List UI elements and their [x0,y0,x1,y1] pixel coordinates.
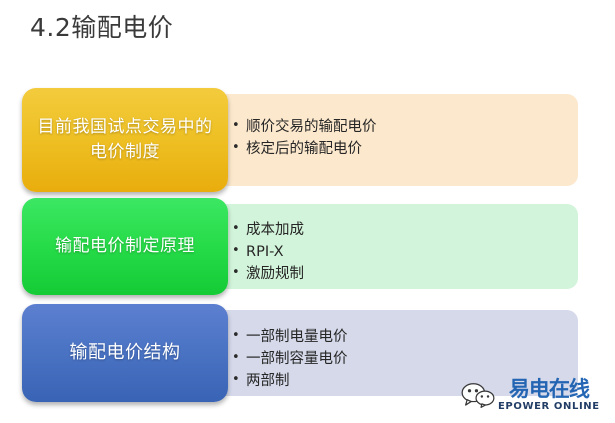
brand-name-cn: 易电在线 [509,379,589,400]
brand-text-block: 易电在线 EPOWER ONLINE [498,379,600,412]
bullet-list: 顺价交易的输配电价 核定后的输配电价 [232,100,578,160]
content-row: 成本加成 RPI-X 激励规制 输配电价制定原理 [0,198,615,295]
wechat-icon [461,381,495,409]
category-label-box[interactable]: 输配电价制定原理 [22,198,228,295]
list-item: 核定后的输配电价 [232,138,578,160]
list-item: 一部制容量电价 [232,348,578,370]
content-row: 顺价交易的输配电价 核定后的输配电价 目前我国试点交易中的电价制度 [0,88,615,192]
category-label-box[interactable]: 输配电价结构 [22,304,228,402]
watermark-logo: 易电在线 EPOWER ONLINE [461,371,609,419]
bullet-list: 成本加成 RPI-X 激励规制 [232,210,578,285]
list-item: 顺价交易的输配电价 [232,116,578,138]
brand-name-en: EPOWER ONLINE [498,402,600,412]
list-item: RPI-X [232,241,578,263]
list-item: 成本加成 [232,219,578,241]
category-label-box[interactable]: 目前我国试点交易中的电价制度 [22,88,228,192]
page-title: 4.2输配电价 [30,12,173,43]
list-item: 激励规制 [232,263,578,285]
list-item: 一部制电量电价 [232,326,578,348]
